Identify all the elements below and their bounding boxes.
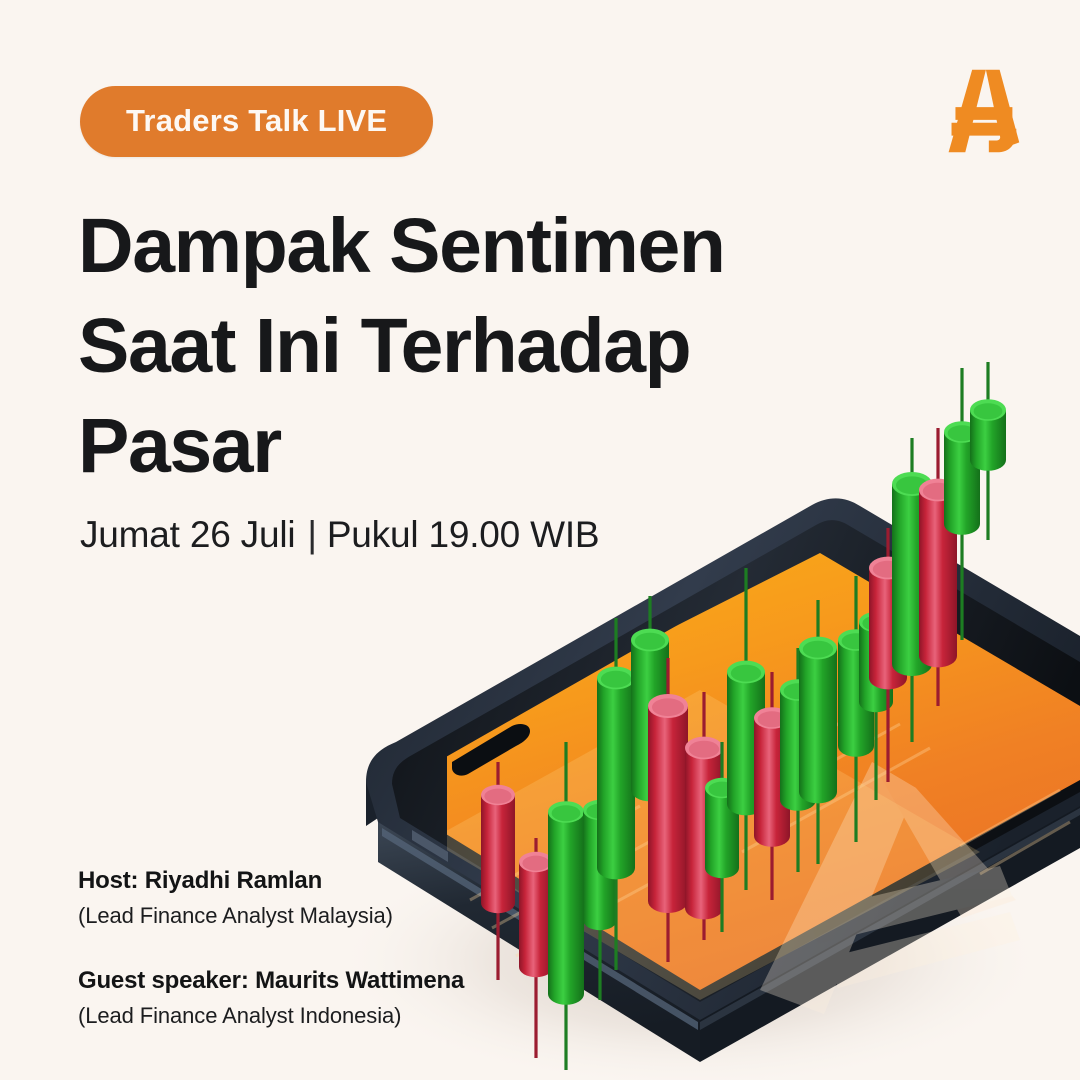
datetime-separator: | xyxy=(307,514,316,556)
guest-role: (Lead Finance Analyst Indonesia) xyxy=(78,1002,598,1030)
guest-name: Guest speaker: Maurits Wattimena xyxy=(78,966,598,996)
headline-line-1: Dampak Sentimen xyxy=(78,196,838,296)
page-title: Dampak Sentimen Saat Ini Terhadap Pasar xyxy=(78,196,838,496)
headline-line-2: Saat Ini Terhadap xyxy=(78,296,838,396)
event-datetime: Jumat 26 Juli|Pukul 19.00 WIB xyxy=(80,514,599,556)
event-time: Pukul 19.00 WIB xyxy=(327,514,600,555)
credit-guest: Guest speaker: Maurits Wattimena (Lead F… xyxy=(78,966,598,1030)
live-badge-label: Traders Talk LIVE xyxy=(126,103,387,138)
host-name: Host: Riyadhi Ramlan xyxy=(78,866,598,896)
live-badge: Traders Talk LIVE xyxy=(80,86,433,157)
credit-host: Host: Riyadhi Ramlan (Lead Finance Analy… xyxy=(78,866,598,930)
event-date: Jumat 26 Juli xyxy=(80,514,295,555)
octa-a-currency-logo xyxy=(926,58,1034,166)
poster-canvas: Traders Talk LIVE Dampak Sentimen Saat I… xyxy=(0,0,1080,1080)
host-role: (Lead Finance Analyst Malaysia) xyxy=(78,902,598,930)
headline-line-3: Pasar xyxy=(78,396,838,496)
credits: Host: Riyadhi Ramlan (Lead Finance Analy… xyxy=(78,866,598,1029)
